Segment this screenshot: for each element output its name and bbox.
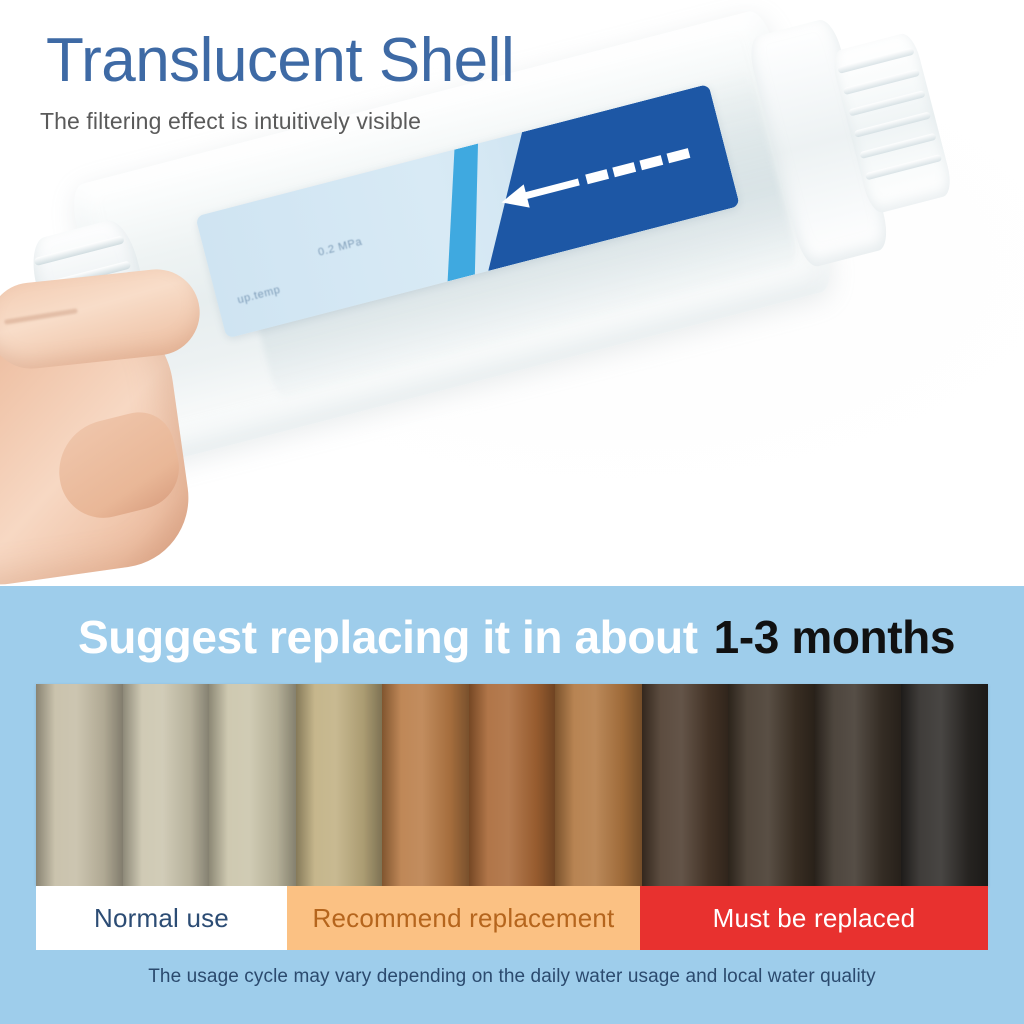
banner-main-text: Suggest replacing it in about: [78, 610, 698, 664]
status-legend-bar: Normal use Recommend replacement Must be…: [36, 886, 988, 950]
replacement-banner: Suggest replacing it in about 1-3 months: [78, 608, 958, 666]
cartridge-sample: [36, 684, 123, 886]
cartridge-sample: [642, 684, 729, 886]
cartridge-sample: [901, 684, 988, 886]
banner-emphasis-text: 1-3 months: [714, 610, 955, 664]
cartridge-progression-strip: [36, 684, 988, 886]
hero-section: up.temp 0.2 MPa Translucent Shell The fi…: [0, 0, 1024, 586]
cartridge-sample: [469, 684, 556, 886]
cartridge-sample: [296, 684, 383, 886]
label-spec-text-right: 0.2 MPa: [317, 236, 364, 259]
product-infographic: up.temp 0.2 MPa Translucent Shell The fi…: [0, 0, 1024, 1024]
cartridge-sample: [209, 684, 296, 886]
status-segment-recommend: Recommend replacement: [287, 886, 640, 950]
status-segment-normal: Normal use: [36, 886, 287, 950]
cartridge-sample: [728, 684, 815, 886]
page-title: Translucent Shell: [46, 30, 514, 92]
cartridge-sample: [382, 684, 469, 886]
cartridge-sample: [123, 684, 210, 886]
cartridge-sample: [815, 684, 902, 886]
footnote-text: The usage cycle may vary depending on th…: [0, 966, 1024, 988]
page-subtitle: The filtering effect is intuitively visi…: [40, 108, 421, 135]
status-segment-must: Must be replaced: [640, 886, 988, 950]
hand-holding-product: [0, 268, 260, 578]
cartridge-sample: [555, 684, 642, 886]
